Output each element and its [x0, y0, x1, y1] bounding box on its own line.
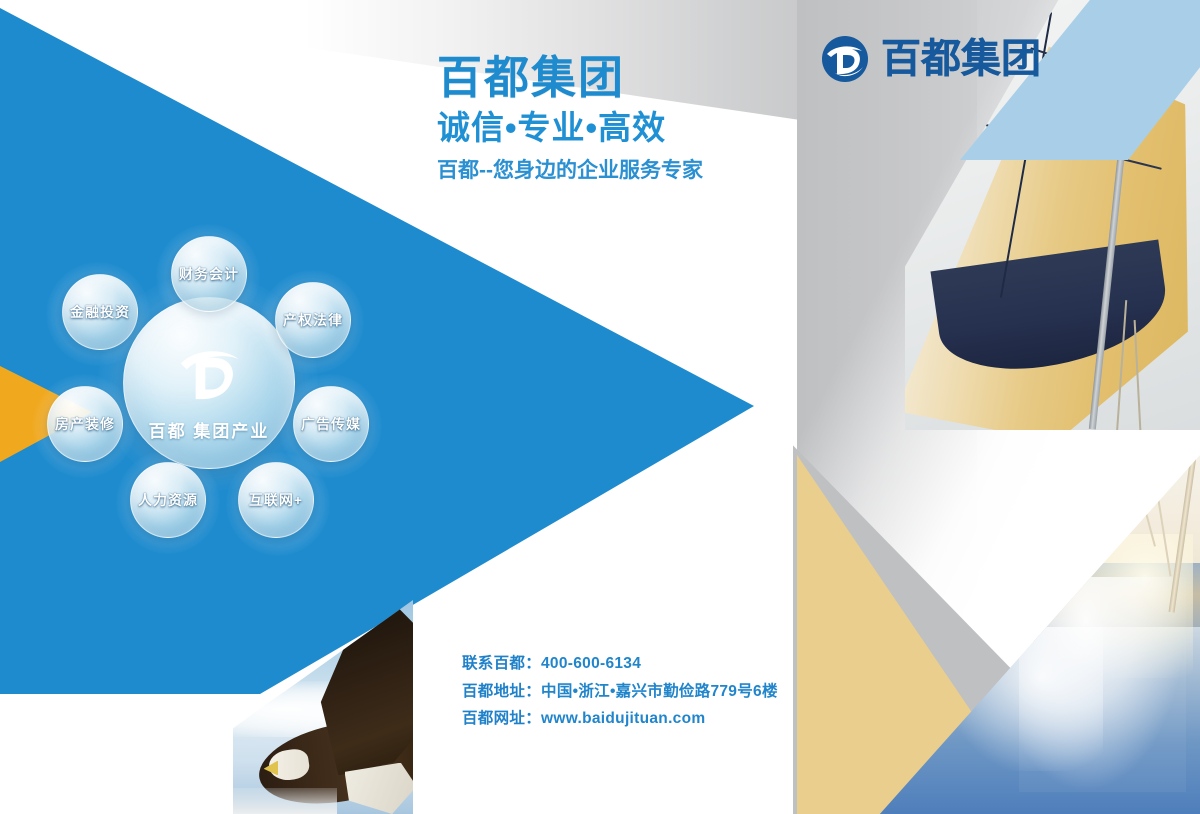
bubble-ip-law[interactable]: 产权法律	[275, 282, 351, 358]
bubble-label: 财务会计	[179, 264, 239, 284]
bubble-label: 人力资源	[138, 490, 198, 510]
bubble-label: 金融投资	[70, 302, 130, 322]
headline-subtitle: 百都--您身边的企业服务专家	[437, 158, 797, 183]
bubble-human-resources[interactable]: 人力资源	[130, 462, 206, 538]
bubble-real-estate-renovation[interactable]: 房产装修	[47, 386, 123, 462]
headline-block: 百都集团 诚信•专业•高效 百都--您身边的企业服务专家	[437, 54, 797, 183]
bubble-label: 产权法律	[283, 310, 343, 330]
contact-phone-label: 联系百都：	[462, 655, 541, 672]
contact-phone-value: 400-600-6134	[541, 655, 641, 672]
bubble-finance-accounting[interactable]: 财务会计	[171, 236, 247, 312]
industry-bubble-diagram: 百都 集团产业 财务会计 产权法律 广告传媒 互联网+ 人力资源 房产装修 金融…	[38, 222, 408, 542]
center-logo-icon	[172, 337, 246, 411]
company-logo: 百都集团	[820, 34, 1041, 84]
contact-address-row: 百都地址：中国•浙江•嘉兴市勤俭路779号6楼	[462, 678, 778, 706]
bubble-center[interactable]: 百都 集团产业	[123, 297, 295, 469]
page-title: 百都集团	[437, 54, 797, 102]
contact-website-label: 百都网址：	[462, 710, 541, 727]
bubble-internet-plus[interactable]: 互联网+	[238, 462, 314, 538]
bubble-center-label: 百都 集团产业	[149, 417, 270, 442]
contact-block: 联系百都：400-600-6134 百都地址：中国•浙江•嘉兴市勤俭路779号6…	[462, 650, 778, 733]
bubble-label: 房产装修	[55, 414, 115, 434]
headline-slogan: 诚信•专业•高效	[437, 110, 797, 147]
bubble-label: 广告传媒	[301, 414, 361, 434]
bubble-financial-investment[interactable]: 金融投资	[62, 274, 138, 350]
contact-website-row: 百都网址：www.baidujituan.com	[462, 705, 778, 733]
bubble-advertising-media[interactable]: 广告传媒	[293, 386, 369, 462]
brochure-canvas: 百都集团 百都集团 诚信•专业•高效 百都--您身边的企业服务专家 百都 集团产…	[0, 0, 1200, 814]
contact-website-value[interactable]: www.baidujituan.com	[541, 710, 705, 727]
logo-wordmark: 百都集团	[881, 39, 1041, 79]
contact-address-value: 中国•浙江•嘉兴市勤俭路779号6楼	[541, 683, 778, 700]
bubble-label: 互联网+	[249, 490, 303, 510]
contact-address-label: 百都地址：	[462, 683, 541, 700]
logo-mark-icon	[820, 34, 870, 84]
contact-phone-row: 联系百都：400-600-6134	[462, 650, 778, 678]
eagle-bottom-fade	[233, 788, 337, 814]
